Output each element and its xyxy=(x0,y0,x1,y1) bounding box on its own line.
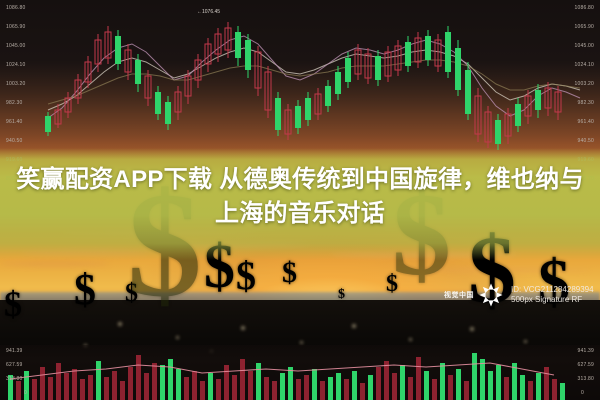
candle xyxy=(355,44,361,80)
volume-bar xyxy=(416,357,421,400)
candle xyxy=(455,40,461,96)
price-axis-left-label: 982.30 xyxy=(6,100,23,106)
candle xyxy=(155,86,161,120)
price-axis-right-label: 1086.80 xyxy=(575,5,594,11)
volume-bar xyxy=(192,371,197,400)
volume-bar xyxy=(344,379,349,400)
volume-bar xyxy=(56,363,61,400)
candle xyxy=(165,96,171,130)
volume-bar xyxy=(184,377,189,400)
candle xyxy=(325,80,331,112)
candle xyxy=(265,66,271,118)
volume-axis-right-label: 941.39 xyxy=(578,348,595,354)
volume-bar xyxy=(544,367,549,400)
candle xyxy=(315,88,321,120)
candle xyxy=(145,70,151,106)
volume-bar xyxy=(40,367,45,400)
candle xyxy=(475,88,481,142)
candle xyxy=(105,26,111,64)
candle xyxy=(175,86,181,120)
candle xyxy=(375,50,381,86)
volume-bar xyxy=(504,377,509,400)
volume-bar xyxy=(320,381,325,400)
volume-bar xyxy=(80,379,85,400)
volume-bar xyxy=(368,375,373,400)
bokeh-speck xyxy=(241,326,245,330)
candle xyxy=(545,82,551,116)
bokeh-speck xyxy=(300,341,303,344)
volume-bar xyxy=(552,379,557,400)
candle xyxy=(75,74,81,104)
volume-bar xyxy=(456,369,461,400)
bokeh-speck xyxy=(524,340,527,343)
volume-bar xyxy=(464,381,469,400)
price-candlestick-chart: ←1076.45 1086.80 1065.90 1045.00 1024.10… xyxy=(0,0,600,152)
price-annotation: ←1076.45 xyxy=(197,9,220,15)
volume-bar xyxy=(288,367,293,400)
price-axis-right-label: 961.40 xyxy=(578,119,595,125)
candle xyxy=(425,30,431,66)
volume-bar xyxy=(440,363,445,400)
candle xyxy=(135,54,141,92)
candle xyxy=(305,92,311,126)
volume-bar xyxy=(352,371,357,400)
vcg-license: 500px Signature RF xyxy=(511,295,594,305)
volume-bar xyxy=(104,377,109,400)
volume-bar xyxy=(32,379,37,400)
volume-bar xyxy=(216,379,221,400)
volume-bar xyxy=(528,381,533,400)
volume-bar xyxy=(472,353,477,400)
candle xyxy=(385,46,391,82)
volume-bar xyxy=(560,383,565,400)
vcg-watermark: 视觉中国 ID: VCG211284289394 500px Signature… xyxy=(444,282,594,308)
volume-bar xyxy=(112,371,117,400)
dollar-sign-silhouette: $ xyxy=(338,288,345,302)
volume-bar xyxy=(480,359,485,400)
volume-bar xyxy=(376,367,381,400)
volume-bar xyxy=(200,381,205,400)
volume-axis-left-label: 627.59 xyxy=(6,362,23,368)
volume-bar xyxy=(432,379,437,400)
candle xyxy=(275,92,281,136)
volume-bar xyxy=(424,371,429,400)
volume-bar xyxy=(272,381,277,400)
bokeh-speck xyxy=(352,324,356,328)
candlestick-series xyxy=(45,22,561,150)
candle xyxy=(485,106,491,148)
bokeh-speck xyxy=(470,327,474,331)
volume-bar xyxy=(360,383,365,400)
price-axis-right-label: 1024.10 xyxy=(575,62,594,68)
volume-axis-right-label: 627.59 xyxy=(578,362,595,368)
candle xyxy=(215,28,221,62)
volume-axis-left-label: 0 xyxy=(24,390,27,396)
vcg-watermark-text: ID: VCG211284289394 500px Signature RF xyxy=(511,285,594,305)
dollar-sign-silhouette: $ xyxy=(236,256,256,296)
volume-bar xyxy=(48,377,53,400)
volume-axis-right-label: 0 xyxy=(581,390,584,396)
volume-bar xyxy=(256,363,261,400)
volume-axis-left-label: 941.39 xyxy=(6,348,23,354)
volume-bar xyxy=(96,361,101,400)
volume-bar xyxy=(208,373,213,400)
volume-bar xyxy=(120,381,125,400)
candle xyxy=(65,92,71,118)
volume-bar xyxy=(280,373,285,400)
candle xyxy=(335,66,341,100)
price-axis-right-label: 1003.20 xyxy=(575,81,594,87)
vcg-image-id: ID: VCG211284289394 xyxy=(511,285,594,295)
volume-bar xyxy=(312,369,317,400)
dollar-sign-silhouette: $ xyxy=(74,268,96,312)
volume-bar xyxy=(88,375,93,400)
price-axis-left-label: 1045.00 xyxy=(6,43,25,49)
candle xyxy=(405,36,411,72)
candle xyxy=(195,54,201,88)
candle xyxy=(95,34,101,72)
volume-bar xyxy=(136,355,141,400)
price-axis-left-label: 1024.10 xyxy=(6,62,25,68)
candle xyxy=(395,40,401,76)
price-axis-left-label: 1065.90 xyxy=(6,24,25,30)
price-plot-svg xyxy=(0,0,600,152)
bokeh-speck xyxy=(409,338,412,341)
price-axis-right-label: 940.50 xyxy=(578,138,595,144)
volume-bar xyxy=(176,369,181,400)
price-axis-left-label: 1003.20 xyxy=(6,81,25,87)
vcg-brand-label: 视觉中国 xyxy=(444,290,474,300)
volume-bar xyxy=(512,363,517,400)
dollar-sign-silhouette: $ xyxy=(282,258,297,288)
price-axis-right-label: 1065.90 xyxy=(575,24,594,30)
volume-bar xyxy=(328,377,333,400)
volume-bar xyxy=(240,359,245,400)
volume-bar xyxy=(400,365,405,400)
image-canvas: $ $ $ $ $ $ $ $ $ $ $ $ xyxy=(0,0,600,400)
volume-bars xyxy=(8,353,565,400)
volume-chart: 941.39 627.59 313.80 0 941.39 627.59 313… xyxy=(0,345,600,400)
candle xyxy=(295,100,301,134)
volume-bar xyxy=(232,375,237,400)
volume-bar xyxy=(488,371,493,400)
candle xyxy=(445,26,451,78)
candle xyxy=(515,98,521,132)
dollar-sign-silhouette: $ xyxy=(4,286,22,322)
price-axis-right-label: 1045.00 xyxy=(575,43,594,49)
volume-bar xyxy=(160,365,165,400)
volume-bar xyxy=(384,361,389,400)
candle xyxy=(435,34,441,72)
candle xyxy=(235,26,241,66)
volume-bar xyxy=(304,375,309,400)
volume-axis-left-label: 313.80 xyxy=(6,376,23,382)
volume-bar xyxy=(64,373,69,400)
price-axis-right-label: 982.30 xyxy=(578,100,595,106)
headline-text: 笑赢配资APP下载 从德奥传统到中国旋律，维也纳与上海的音乐对话 xyxy=(0,163,600,231)
volume-bar xyxy=(336,373,341,400)
volume-bar xyxy=(16,381,21,400)
candle xyxy=(115,30,121,70)
candle xyxy=(285,104,291,140)
volume-bar xyxy=(408,377,413,400)
price-axis-left-label: 940.50 xyxy=(6,138,23,144)
volume-plot-svg xyxy=(0,345,600,400)
volume-bar xyxy=(152,363,157,400)
volume-bar xyxy=(72,369,77,400)
price-axis-left-label: 1086.80 xyxy=(6,5,25,11)
price-axis-left-label: 961.40 xyxy=(6,119,23,125)
candle xyxy=(465,62,471,120)
volume-bar xyxy=(392,373,397,400)
candle xyxy=(245,34,251,78)
vcg-starburst-icon xyxy=(478,282,504,308)
volume-bar xyxy=(536,373,541,400)
candle xyxy=(555,86,561,120)
volume-bar xyxy=(168,359,173,400)
volume-axis-right-label: 313.80 xyxy=(578,376,595,382)
volume-bar xyxy=(144,373,149,400)
volume-bar xyxy=(520,375,525,400)
volume-bar xyxy=(448,375,453,400)
candle xyxy=(55,104,61,128)
volume-bar xyxy=(264,377,269,400)
volume-bar xyxy=(248,371,253,400)
bokeh-speck xyxy=(118,322,122,326)
volume-bar xyxy=(496,365,501,400)
volume-bar xyxy=(128,367,133,400)
volume-bar xyxy=(224,365,229,400)
candle xyxy=(495,114,501,150)
candle xyxy=(85,56,91,88)
bokeh-speck xyxy=(176,336,179,339)
candle xyxy=(415,32,421,68)
candle xyxy=(45,112,51,136)
volume-bar xyxy=(296,379,301,400)
